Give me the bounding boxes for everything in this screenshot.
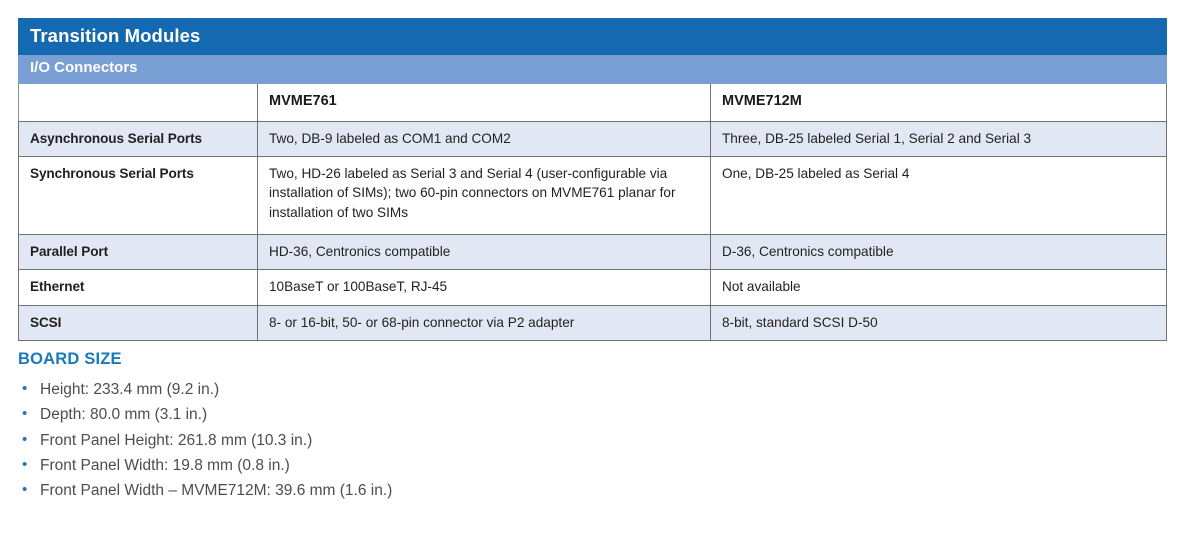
list-item-text: Front Panel Height: 261.8 mm (10.3 in.) bbox=[40, 432, 312, 449]
row-value-mvme712m: D-36, Centronics compatible bbox=[711, 235, 1167, 270]
list-item: • Front Panel Width – MVME712M: 39.6 mm … bbox=[18, 478, 818, 503]
row-label: Asynchronous Serial Ports bbox=[19, 121, 258, 156]
row-value-mvme761: HD-36, Centronics compatible bbox=[258, 235, 711, 270]
row-value-mvme712m: Not available bbox=[711, 270, 1167, 305]
table-title: Transition Modules bbox=[19, 19, 1167, 55]
table-row: Synchronous Serial Ports Two, HD-26 labe… bbox=[19, 157, 1167, 235]
column-header-mvme712m: MVME712M bbox=[711, 83, 1167, 121]
board-size-heading: BOARD SIZE bbox=[18, 350, 818, 368]
spec-sheet-page: Transition Modules I/O Connectors MVME76… bbox=[0, 0, 1190, 534]
row-value-mvme712m: One, DB-25 labeled as Serial 4 bbox=[711, 157, 1167, 235]
bullet-icon: • bbox=[22, 478, 27, 502]
table-section-title: I/O Connectors bbox=[19, 55, 1167, 84]
row-value-mvme712m: Three, DB-25 labeled Serial 1, Serial 2 … bbox=[711, 121, 1167, 156]
row-value-mvme712m: 8-bit, standard SCSI D-50 bbox=[711, 305, 1167, 340]
table-title-row: Transition Modules bbox=[19, 19, 1167, 55]
row-value-mvme761: Two, DB-9 labeled as COM1 and COM2 bbox=[258, 121, 711, 156]
bullet-icon: • bbox=[22, 377, 27, 401]
table-row: Ethernet 10BaseT or 100BaseT, RJ-45 Not … bbox=[19, 270, 1167, 305]
transition-modules-table: Transition Modules I/O Connectors MVME76… bbox=[18, 18, 1167, 341]
bullet-icon: • bbox=[22, 428, 27, 452]
list-item: • Front Panel Height: 261.8 mm (10.3 in.… bbox=[18, 428, 818, 453]
row-label: Synchronous Serial Ports bbox=[19, 157, 258, 235]
row-label: Parallel Port bbox=[19, 235, 258, 270]
list-item: • Depth: 80.0 mm (3.1 in.) bbox=[18, 402, 818, 427]
table-body: Asynchronous Serial Ports Two, DB-9 labe… bbox=[19, 121, 1167, 340]
list-item-text: Depth: 80.0 mm (3.1 in.) bbox=[40, 406, 207, 423]
list-item: • Height: 233.4 mm (9.2 in.) bbox=[18, 377, 818, 402]
row-label: SCSI bbox=[19, 305, 258, 340]
table-row: Parallel Port HD-36, Centronics compatib… bbox=[19, 235, 1167, 270]
table-column-header-row: MVME761 MVME712M bbox=[19, 83, 1167, 121]
bullet-icon: • bbox=[22, 453, 27, 477]
table-row: Asynchronous Serial Ports Two, DB-9 labe… bbox=[19, 121, 1167, 156]
column-header-mvme761: MVME761 bbox=[258, 83, 711, 121]
list-item-text: Height: 233.4 mm (9.2 in.) bbox=[40, 381, 219, 398]
row-value-mvme761: 10BaseT or 100BaseT, RJ-45 bbox=[258, 270, 711, 305]
table-section-row: I/O Connectors bbox=[19, 55, 1167, 84]
table-header: Transition Modules I/O Connectors MVME76… bbox=[19, 19, 1167, 122]
list-item: • Front Panel Width: 19.8 mm (0.8 in.) bbox=[18, 453, 818, 478]
table-row: SCSI 8- or 16-bit, 50- or 68-pin connect… bbox=[19, 305, 1167, 340]
list-item-text: Front Panel Width: 19.8 mm (0.8 in.) bbox=[40, 457, 290, 474]
row-value-mvme761: Two, HD-26 labeled as Serial 3 and Seria… bbox=[258, 157, 711, 235]
column-header-label bbox=[19, 83, 258, 121]
bullet-icon: • bbox=[22, 402, 27, 426]
board-size-list: • Height: 233.4 mm (9.2 in.) • Depth: 80… bbox=[18, 377, 818, 503]
row-value-mvme761: 8- or 16-bit, 50- or 68-pin connector vi… bbox=[258, 305, 711, 340]
board-size-section: BOARD SIZE • Height: 233.4 mm (9.2 in.) … bbox=[18, 350, 818, 503]
row-label: Ethernet bbox=[19, 270, 258, 305]
list-item-text: Front Panel Width – MVME712M: 39.6 mm (1… bbox=[40, 482, 392, 499]
